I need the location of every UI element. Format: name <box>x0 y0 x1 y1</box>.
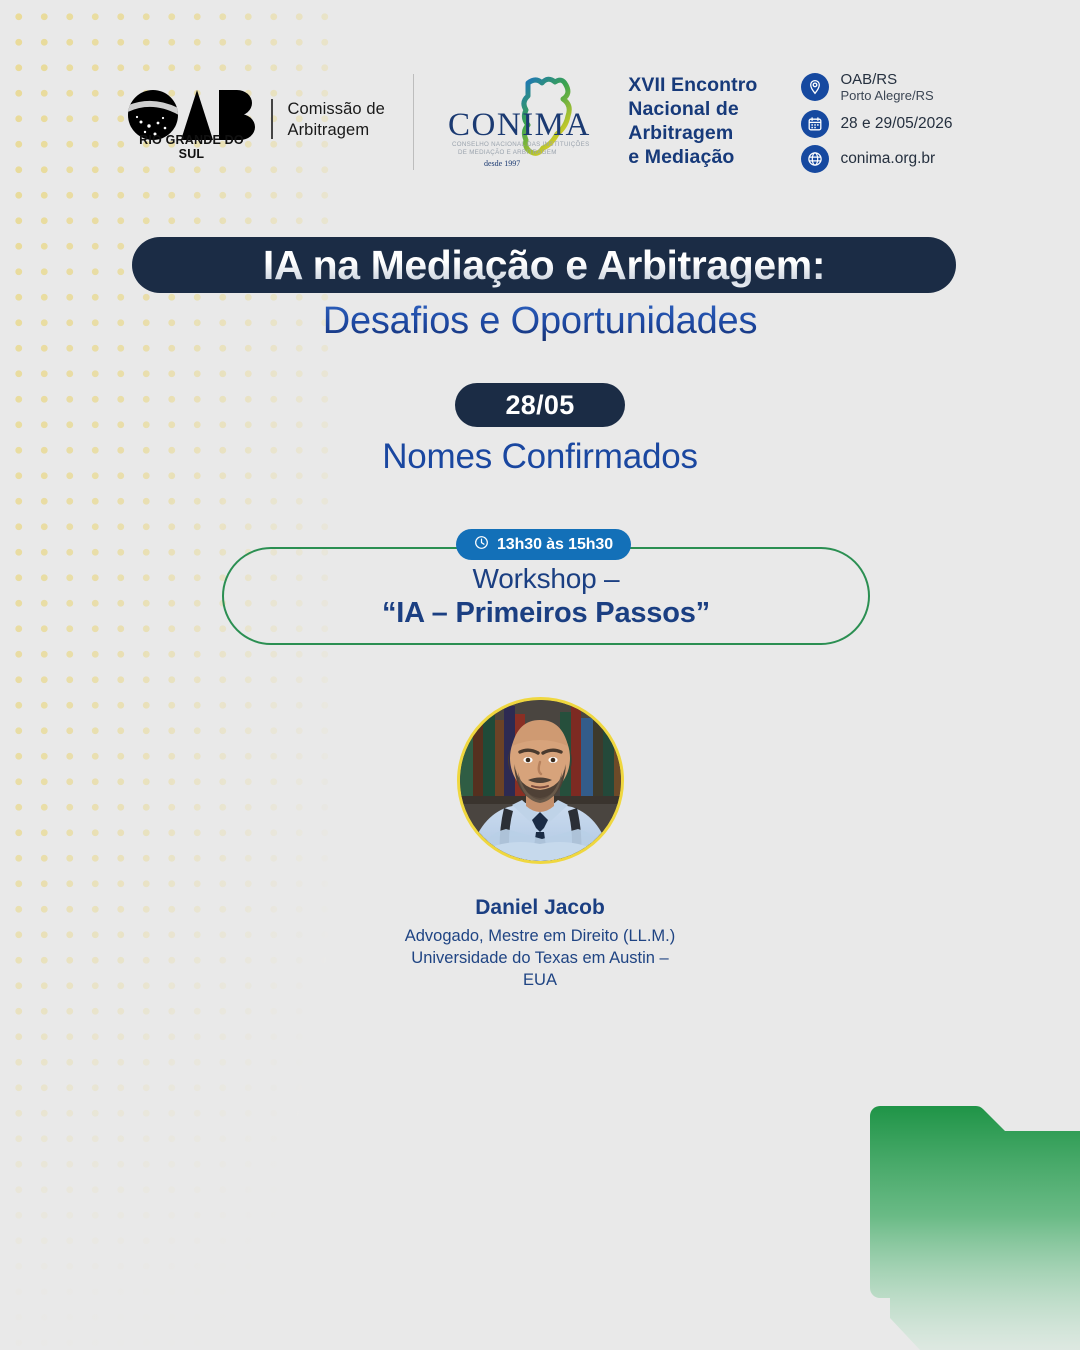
speaker-photo <box>460 700 621 861</box>
contact-website-text[interactable]: conima.org.br <box>840 150 935 168</box>
green-corner-decoration <box>860 1080 1080 1350</box>
oab-logo-icon: RIO GRANDE DO SUL <box>127 84 255 160</box>
speaker-role-block: Advogado, Mestre em Direito (LL.M.) Univ… <box>0 926 1080 992</box>
conima-tagline-line1: CONSELHO NACIONAL DAS INSTITUIÇÕES <box>452 141 590 148</box>
location-pin-icon <box>801 73 829 101</box>
contact-location-text: OAB/RS Porto Alegre/RS <box>840 71 933 103</box>
conima-logo-icon: CONIMA CONSELHO NACIONAL DAS INSTITUIÇÕE… <box>442 73 602 171</box>
conima-since: desde 1997 <box>484 159 520 168</box>
header-bar: RIO GRANDE DO SUL Comissão de Arbitragem <box>0 62 1080 182</box>
page-title: IA na Mediação e Arbitragem: <box>263 242 825 289</box>
main-title-pill: IA na Mediação e Arbitragem: <box>132 237 956 293</box>
oab-commission-line1: Comissão de <box>287 99 384 120</box>
contact-row-date: 28 e 29/05/2026 <box>801 110 952 138</box>
clock-icon <box>474 535 489 555</box>
speaker-role-line1: Advogado, Mestre em Direito (LL.M.) <box>0 926 1080 948</box>
speaker-role-line2: Universidade do Texas em Austin – <box>0 948 1080 970</box>
calendar-icon <box>801 110 829 138</box>
globe-icon <box>801 145 829 173</box>
date-badge: 28/05 <box>455 383 625 427</box>
speaker-role-line3: EUA <box>0 970 1080 992</box>
confirmed-names-heading: Nomes Confirmados <box>0 437 1080 477</box>
session-time-badge: 13h30 às 15h30 <box>456 529 631 560</box>
oab-commission-line2: Arbitragem <box>287 120 384 141</box>
contact-date-text: 28 e 29/05/2026 <box>840 115 952 133</box>
contact-location-primary: OAB/RS <box>840 71 933 88</box>
event-name-line4: e Mediação <box>628 146 757 170</box>
dot-pattern-decoration <box>0 0 330 1350</box>
poster-canvas: RIO GRANDE DO SUL Comissão de Arbitragem <box>0 0 1080 1350</box>
contact-row-location: OAB/RS Porto Alegre/RS <box>801 71 952 103</box>
speaker-avatar <box>457 697 624 864</box>
event-name-line1: XVII Encontro <box>628 74 757 98</box>
oab-logo-lockup: RIO GRANDE DO SUL Comissão de Arbitragem <box>127 84 384 160</box>
event-name-line3: Arbitragem <box>628 122 757 146</box>
event-name: XVII Encontro Nacional de Arbitragem e M… <box>628 74 757 169</box>
oab-state-label: RIO GRANDE DO SUL <box>127 133 255 161</box>
oab-commission-label: Comissão de Arbitragem <box>287 99 384 145</box>
page-subtitle: Desafios e Oportunidades <box>0 300 1080 343</box>
contact-row-website[interactable]: conima.org.br <box>801 145 952 173</box>
oab-divider <box>271 99 273 139</box>
session-title-line1: Workshop – <box>222 562 870 596</box>
session-time-label: 13h30 às 15h30 <box>497 536 613 554</box>
header-separator <box>413 74 414 170</box>
contact-location-secondary: Porto Alegre/RS <box>840 88 933 103</box>
conima-tagline-line2: DE MEDIAÇÃO E ARBITRAGEM <box>458 149 557 156</box>
speaker-name: Daniel Jacob <box>0 896 1080 920</box>
session-title-line2: “IA – Primeiros Passos” <box>222 596 870 631</box>
session-title-block: Workshop – “IA – Primeiros Passos” <box>222 562 870 632</box>
svg-text:CONIMA: CONIMA <box>448 107 591 143</box>
dot-pattern-fade <box>0 0 340 1350</box>
date-badge-label: 28/05 <box>505 390 574 421</box>
event-name-line2: Nacional de <box>628 98 757 122</box>
contact-info-block: OAB/RS Porto Alegre/RS 28 e 29/05/2026 <box>801 71 952 173</box>
